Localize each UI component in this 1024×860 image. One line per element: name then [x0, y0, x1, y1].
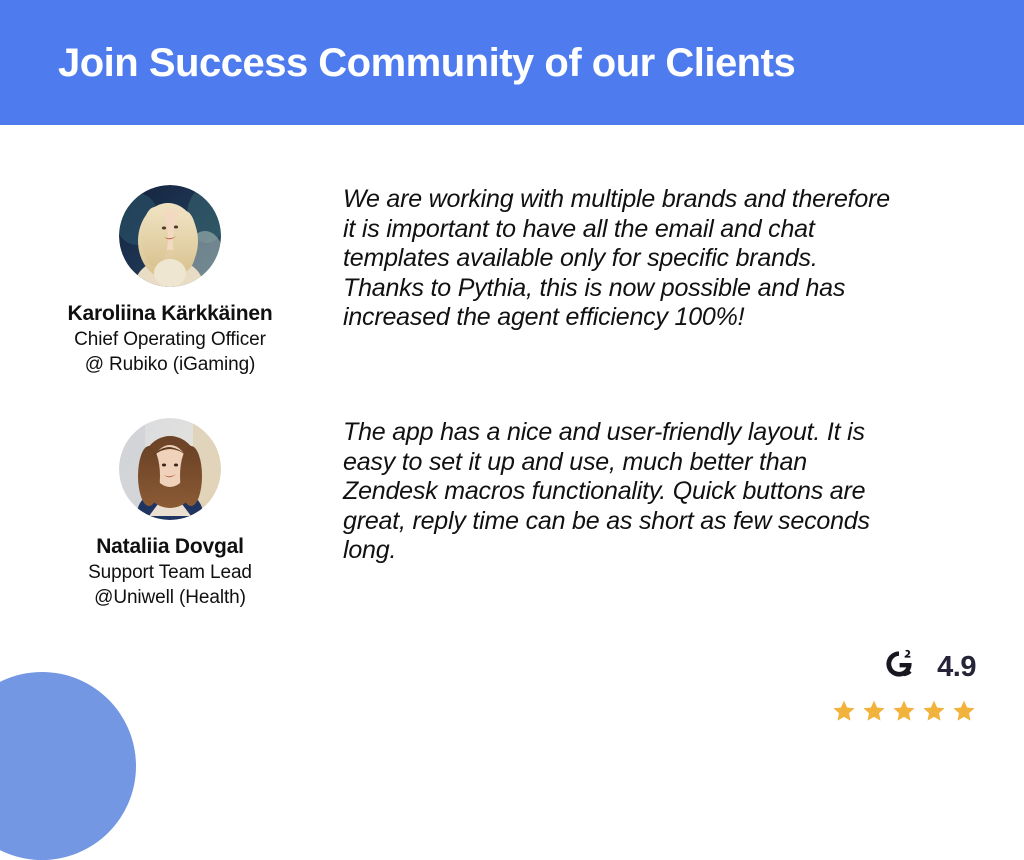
- avatar-karoliina-karkkainen: [119, 185, 221, 287]
- person-name: Nataliia Dovgal: [88, 534, 252, 560]
- g2-rating-score: 4.9: [937, 653, 976, 682]
- testimonial-quote: The app has a nice and user-friendly lay…: [340, 418, 1024, 566]
- decorative-corner-circle: [0, 672, 136, 860]
- avatar-nataliia-dovgal: [119, 418, 221, 520]
- star-icon: [862, 699, 886, 728]
- g2-logo-icon: [883, 648, 917, 687]
- star-icon: [892, 699, 916, 728]
- person-company: @ Rubiko (iGaming): [68, 352, 273, 377]
- person-meta: Nataliia Dovgal Support Team Lead @Uniwe…: [88, 534, 252, 610]
- star-icon: [922, 699, 946, 728]
- person-role: Support Team Lead: [88, 560, 252, 585]
- person-meta: Karoliina Kärkkäinen Chief Operating Off…: [68, 301, 273, 377]
- header-banner: Join Success Community of our Clients: [0, 0, 1024, 125]
- person-company: @Uniwell (Health): [88, 585, 252, 610]
- page-title: Join Success Community of our Clients: [0, 41, 795, 85]
- testimonial-person: Karoliina Kärkkäinen Chief Operating Off…: [0, 185, 340, 377]
- testimonial-item: Nataliia Dovgal Support Team Lead @Uniwe…: [0, 418, 1024, 610]
- testimonial-person: Nataliia Dovgal Support Team Lead @Uniwe…: [0, 418, 340, 610]
- testimonial-quote: We are working with multiple brands and …: [340, 185, 1024, 333]
- star-icon: [952, 699, 976, 728]
- g2-rating-badge: 4.9: [826, 648, 976, 728]
- star-icon: [832, 699, 856, 728]
- person-name: Karoliina Kärkkäinen: [68, 301, 273, 327]
- star-rating: [832, 699, 976, 728]
- testimonial-item: Karoliina Kärkkäinen Chief Operating Off…: [0, 185, 1024, 377]
- g2-rating-row: 4.9: [883, 648, 976, 687]
- testimonials-list: Karoliina Kärkkäinen Chief Operating Off…: [0, 125, 1024, 625]
- person-role: Chief Operating Officer: [68, 327, 273, 352]
